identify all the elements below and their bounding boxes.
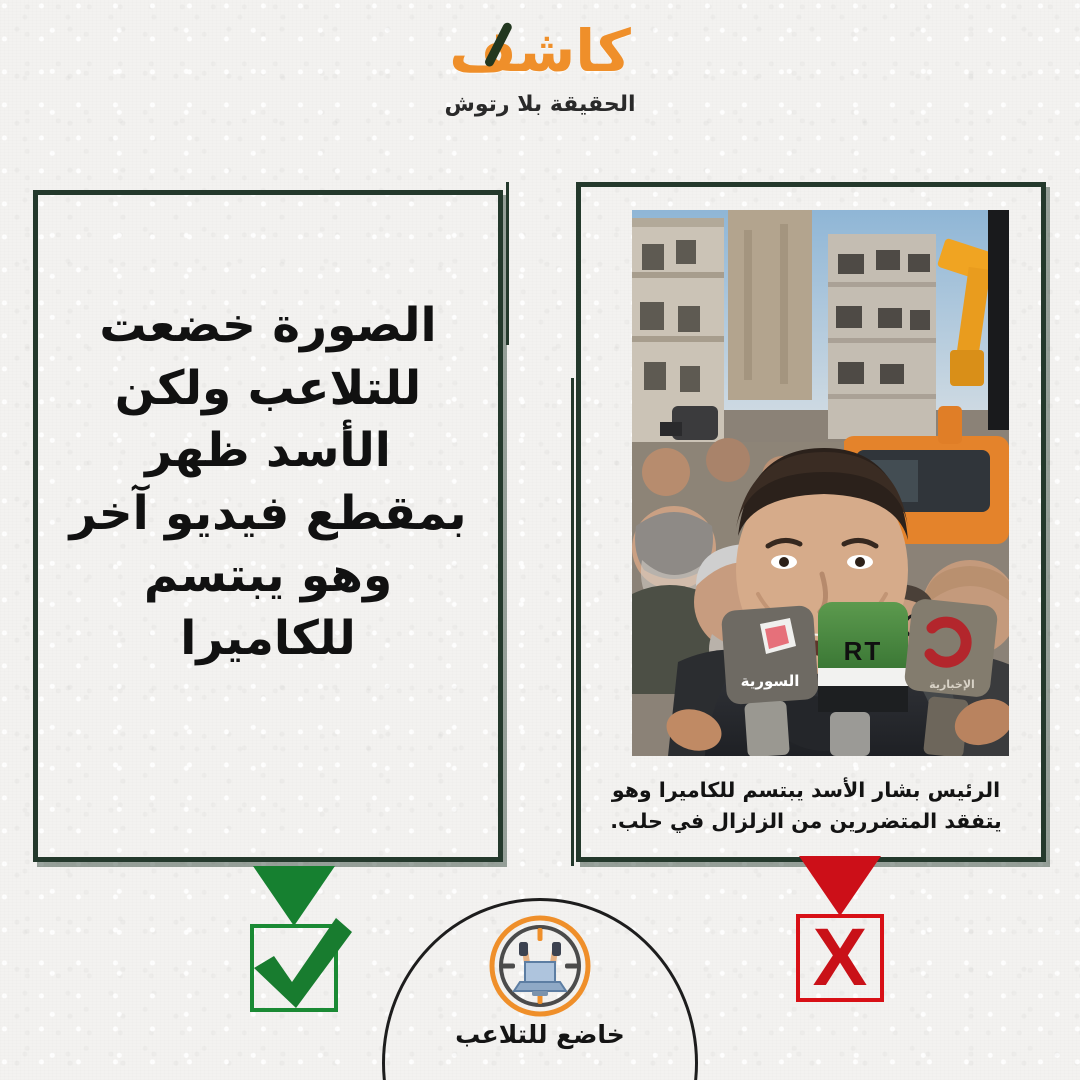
verdict-true <box>222 866 392 1046</box>
evidence-photo: السورية RT الإخبارية <box>632 210 1009 756</box>
photo-caption: الرئيس بشار الأسد يبتسم للكاميرا وهو يتف… <box>601 775 1011 837</box>
verdict-false: X <box>768 856 938 1036</box>
claim-panel: الصورة خضعت للتلاعب ولكن الأسد ظهر بمقطع… <box>33 190 503 862</box>
verdict-badge: خاضع للتلاعب <box>382 898 698 1080</box>
badge-label: خاضع للتلاعب <box>382 1020 698 1049</box>
divider-accent-bottom <box>571 378 574 866</box>
poster-canvas: كاشف الحقيقة بلا رتوش الصورة خضعت للتلاع… <box>0 0 1080 1080</box>
photo-illustration: السورية RT الإخبارية <box>632 210 1009 756</box>
brand-tagline: الحقيقة بلا رتوش <box>0 92 1080 117</box>
logo-wordmark: كاشف <box>449 22 631 80</box>
evidence-panel: السورية RT الإخبارية الرئيس بشار الأسد ي… <box>576 182 1046 862</box>
x-icon: X <box>796 914 884 1002</box>
check-icon <box>240 910 352 1010</box>
logo-text: كاشف <box>449 17 631 85</box>
arrow-down-red-icon <box>799 856 881 916</box>
claim-text: الصورة خضعت للتلاعب ولكن الأسد ظهر بمقطع… <box>64 295 472 670</box>
brand-header: كاشف الحقيقة بلا رتوش <box>0 22 1080 117</box>
svg-text:RT: RT <box>844 636 883 666</box>
laptop-hands-icon <box>488 914 592 1018</box>
svg-text:السورية: السورية <box>741 672 800 690</box>
svg-text:الإخبارية: الإخبارية <box>929 678 975 691</box>
divider-accent-top <box>506 182 509 345</box>
